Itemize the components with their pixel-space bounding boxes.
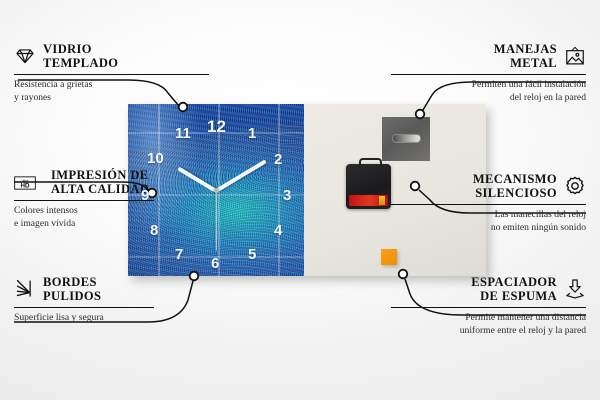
feature-vidrio-templado: VIDRIO TEMPLADO Resistencia a grietas y … (14, 42, 209, 105)
feature-desc-line2: e imagen vívida (14, 218, 154, 231)
feature-title-line1: ESPACIADOR (471, 275, 557, 289)
feature-title-line2: ALTA CALIDAD (51, 182, 149, 196)
clock-numeral-10: 10 (147, 151, 164, 166)
feature-title-line1: MANEJAS (494, 42, 557, 56)
clock-numeral-1: 1 (248, 126, 256, 141)
feature-title-line1: IMPRESIÓN DE (51, 168, 149, 182)
picture-frame-hanger-icon (564, 45, 586, 67)
clock-mechanism (346, 164, 391, 209)
feature-title-line1: BORDES (43, 275, 101, 289)
feature-mecanismo-silencioso: MECANISMO SILENCIOSO Las manecillas del … (391, 172, 586, 235)
diamond-icon (14, 45, 36, 67)
feature-desc-line2: uniforme entre el reloj y la pared (391, 325, 586, 338)
feature-desc-line1: Las manecillas del reloj (391, 209, 586, 222)
feature-title-line1: MECANISMO (473, 172, 557, 186)
feature-impresion-alta-calidad: ultra HD IMPRESIÓN DE ALTA CALIDAD Color… (14, 168, 154, 231)
clock-hour-hand (177, 167, 217, 193)
infographic-canvas: 12 1 2 3 4 5 6 7 8 9 10 11 (0, 0, 600, 400)
foam-spacer (381, 249, 397, 265)
feature-title-line2: PULIDOS (43, 289, 101, 303)
hanger-slot (392, 134, 421, 143)
feature-manejas-metal: MANEJAS METAL Permiten una fácil instala… (391, 42, 586, 105)
feature-desc-line2: no emiten ningún sonido (391, 222, 586, 235)
feature-title-line2: TEMPLADO (43, 56, 118, 70)
clock-second-hand (215, 191, 216, 251)
ultra-hd-icon: ultra HD (14, 172, 44, 192)
feature-desc-line1: Permite mantener una distancia (391, 312, 586, 325)
clock-front-face: 12 1 2 3 4 5 6 7 8 9 10 11 (128, 104, 304, 276)
feature-bordes-pulidos: BORDES PULIDOS Superficie lisa y segura (14, 275, 154, 325)
clock-numeral-6: 6 (211, 256, 219, 271)
clock-numeral-5: 5 (248, 247, 256, 262)
clock-numeral-7: 7 (175, 247, 183, 262)
feature-desc-line1: Resistencia a grietas (14, 79, 209, 92)
feature-desc-line1: Superficie lisa y segura (14, 312, 154, 325)
clock-numeral-12: 12 (207, 118, 226, 135)
battery-label (349, 195, 388, 206)
feature-title-line2: SILENCIOSO (473, 186, 557, 200)
clock-numeral-2: 2 (274, 152, 282, 167)
feature-title-line2: DE ESPUMA (471, 289, 557, 303)
feature-title-line2: METAL (494, 56, 557, 70)
feature-desc-line2: del reloj en la pared (391, 92, 586, 105)
feature-espaciador-de-espuma: ESPACIADOR DE ESPUMA Permite mantener un… (391, 275, 586, 338)
foam-spacer-arrow-icon (564, 278, 586, 300)
clock-numeral-8: 8 (150, 223, 158, 238)
feature-desc-line2: y rayones (14, 92, 209, 105)
feature-title-line1: VIDRIO (43, 42, 118, 56)
clock-minute-hand (215, 159, 267, 192)
metal-hanger-plate (382, 117, 430, 161)
polished-edges-icon (14, 278, 36, 300)
mechanism-hook (359, 158, 382, 168)
clock-numeral-4: 4 (274, 223, 282, 238)
feature-desc-line1: Colores intensos (14, 205, 154, 218)
clock-numeral-11: 11 (175, 126, 191, 141)
svg-text:HD: HD (21, 183, 30, 190)
clock-numeral-3: 3 (283, 188, 291, 203)
clock-numeral-9: 9 (141, 188, 149, 203)
clock-center-pin (214, 188, 219, 193)
feature-desc-line1: Permiten una fácil instalación (391, 79, 586, 92)
gear-icon (564, 175, 586, 197)
